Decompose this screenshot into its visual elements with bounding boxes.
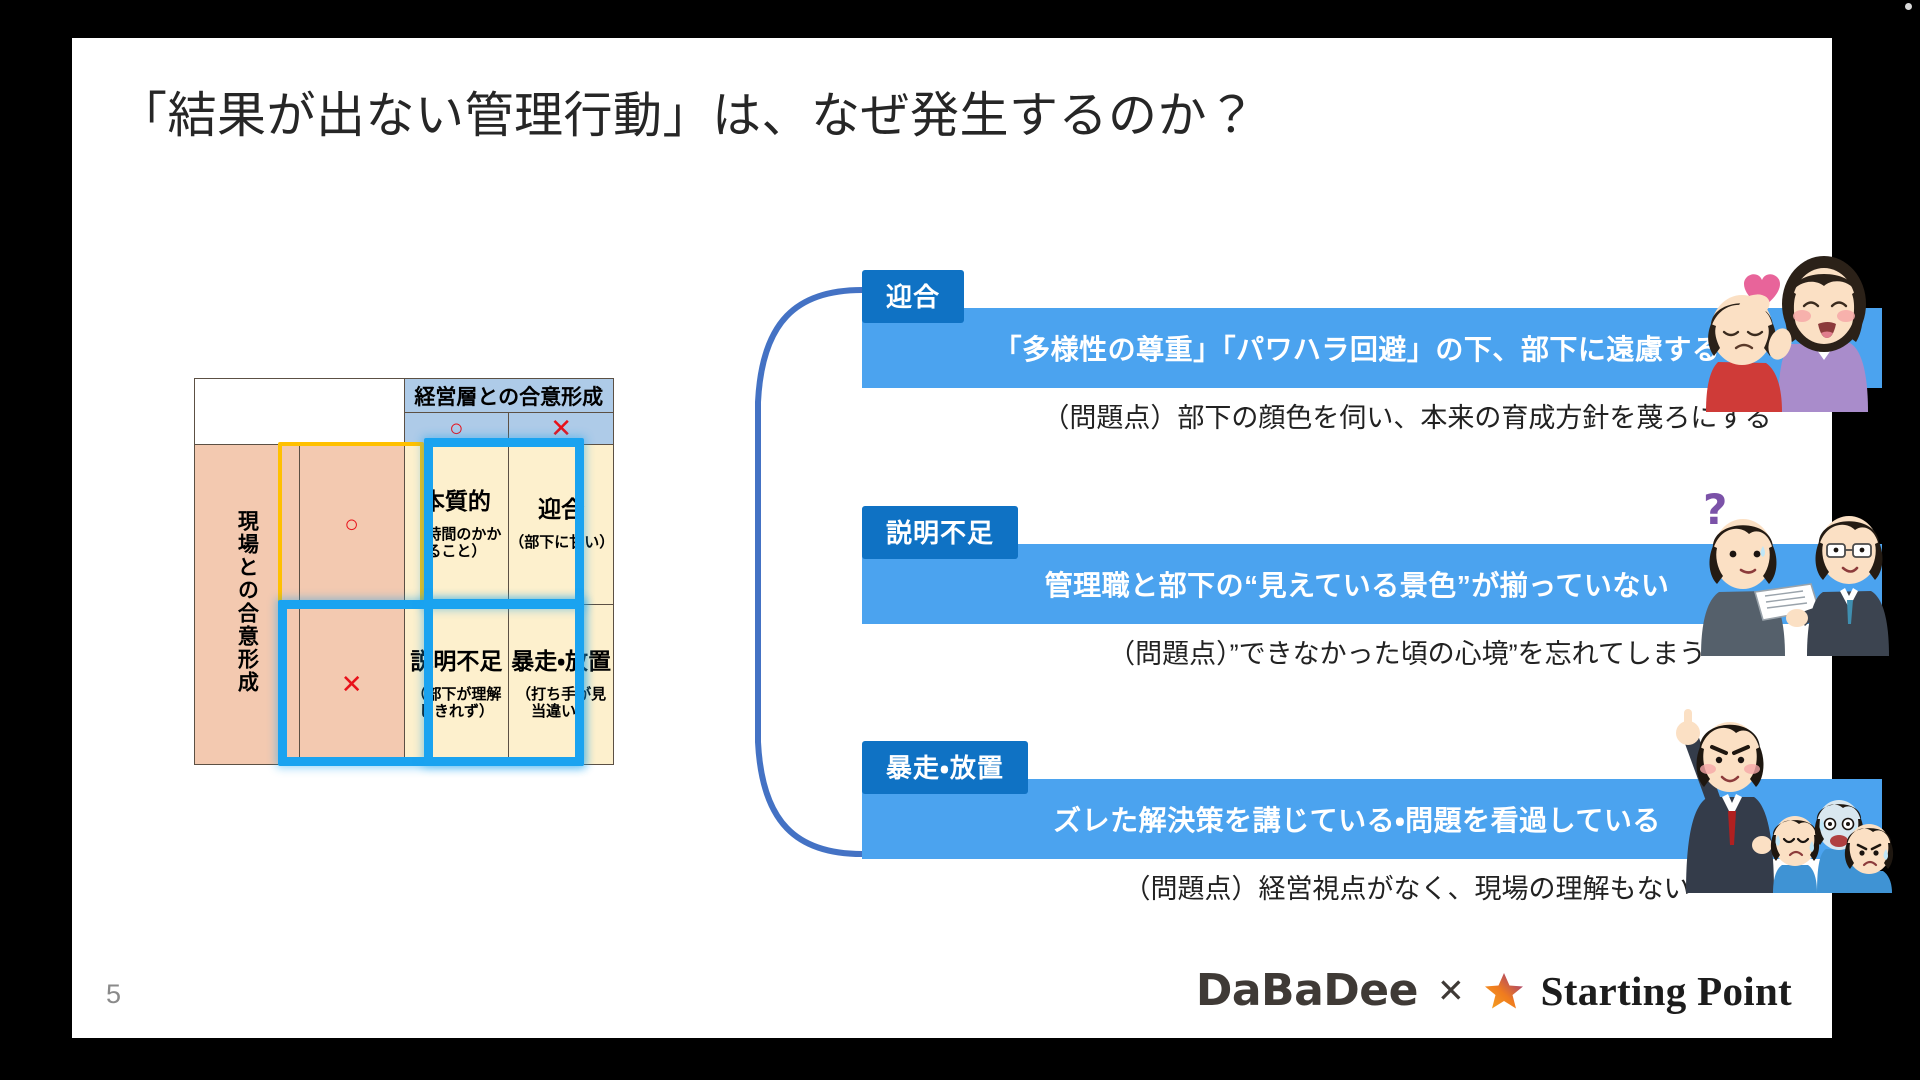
screen-corner-speck — [1905, 3, 1912, 10]
panel-tag: 説明不足 — [862, 506, 1018, 559]
matrix-cell-pandering: 迎合 （部下に甘い） — [509, 445, 614, 605]
matrix-cell-runaway-neglect: 暴走・放置 （打ち手が見当違い） — [509, 605, 614, 765]
svg-text:?: ? — [1703, 488, 1727, 534]
matrix-col-group-header: 経営層との合意形成 — [404, 379, 614, 413]
logo-cross-separator: ✕ — [1435, 971, 1467, 1010]
matrix-corner-blank — [195, 379, 405, 445]
star-icon — [1484, 971, 1524, 1011]
matrix-row-header-o: ○ — [299, 445, 404, 605]
matrix-col-header-x: ✕ — [509, 413, 614, 445]
illustration-woman-comforting-subordinate-icon — [1682, 244, 1892, 414]
footer-logos: DaBaDee ✕ Starting Point — [1196, 965, 1792, 1016]
illustration-two-businessmen-documents-icon: ? — [1677, 488, 1892, 656]
page-title: 「結果が出ない管理行動」は、なぜ発生するのか？ — [118, 88, 1257, 144]
logo-starting-point: Starting Point — [1541, 967, 1792, 1015]
matrix-cell-essential: 本質的 （時間のかかること） — [404, 445, 509, 605]
two-by-two-matrix: 経営層との合意形成 ○ ✕ 現場との合意形成 ○ — [194, 378, 614, 764]
screen: 「結果が出ない管理行動」は、なぜ発生するのか？ 経営層との合意形成 ○ ✕ — [0, 0, 1920, 1080]
cross-mark-icon: ✕ — [341, 669, 363, 699]
circle-mark-icon: ○ — [449, 415, 464, 442]
cross-mark-icon: ✕ — [550, 413, 572, 443]
illustration-boss-pointing-worried-team-icon — [1662, 693, 1897, 893]
matrix-table: 経営層との合意形成 ○ ✕ 現場との合意形成 ○ — [194, 378, 614, 765]
circle-mark-icon: ○ — [344, 511, 359, 538]
page-number: 5 — [106, 979, 121, 1010]
panel-tag: 暴走・放置 — [862, 741, 1028, 794]
matrix-row-top: 現場との合意形成 ○ 本質的 （時間のかかること） 迎合 （部下に甘い） — [195, 445, 614, 605]
matrix-row-header-x: ✕ — [299, 605, 404, 765]
panel-tag: 迎合 — [862, 270, 964, 323]
matrix-cell-underexplained: 説明不足 （部下が理解しきれず） — [404, 605, 509, 765]
slide-canvas: 「結果が出ない管理行動」は、なぜ発生するのか？ 経営層との合意形成 ○ ✕ — [72, 38, 1832, 1038]
logo-dabadee: DaBaDee — [1196, 965, 1418, 1016]
matrix-header-row-group: 経営層との合意形成 — [195, 379, 614, 413]
matrix-col-header-o: ○ — [404, 413, 509, 445]
matrix-row-group-header: 現場との合意形成 — [195, 445, 300, 765]
left-brace-connector — [744, 282, 864, 862]
